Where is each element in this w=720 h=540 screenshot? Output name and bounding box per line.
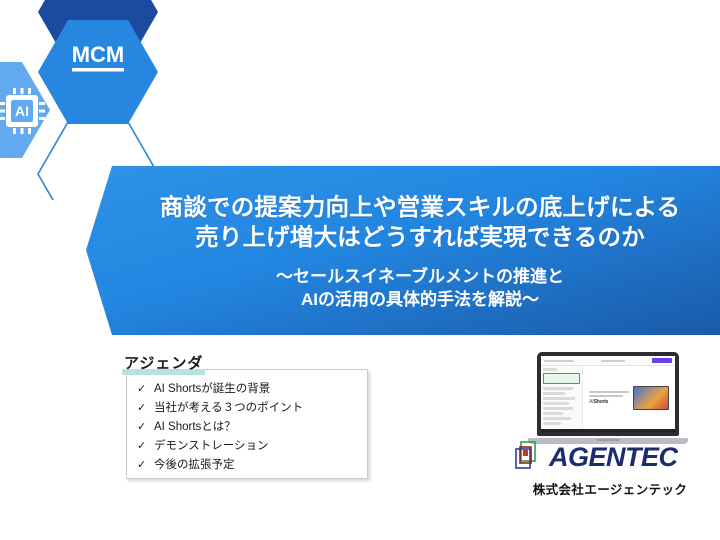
agenda-box: ✓ AI Shortsが誕生の背景 ✓ 当社が考える３つのポイント ✓ AI S… <box>126 369 368 479</box>
ai-shorts-logo-suffix: Shorts <box>594 399 609 405</box>
sidebar-placeholder <box>543 422 561 425</box>
subtitle-line-2: AIの活用の具体的手法を解説～ <box>276 288 564 311</box>
subtitle-line-1: ～セールスイネーブルメントの推進と <box>276 265 564 288</box>
agenda-item-label: 当社が考える３つのポイント <box>154 400 303 417</box>
laptop-screen: AIShorts <box>541 356 675 432</box>
mcm-label: MCM <box>72 42 125 67</box>
agenda-item: ✓ 今後の拡張予定 <box>137 457 367 474</box>
agenda-item: ✓ AI Shortsが誕生の背景 <box>137 381 367 398</box>
banner-text-block: 商談での提案力向上や営業スキルの底上げによる 売り上げ増大はどうすれば実現できる… <box>130 160 710 335</box>
app-main-content: AIShorts <box>583 366 675 429</box>
agenda-section: アジェンダ ✓ AI Shortsが誕生の背景 ✓ 当社が考える３つのポイント … <box>122 352 380 479</box>
sidebar-placeholder <box>543 407 573 410</box>
hexagon-ai <box>0 62 50 158</box>
ai-shorts-logo: AIShorts <box>589 399 629 405</box>
title-line-2: 売り上げ増大はどうすれば実現できるのか <box>195 222 645 252</box>
app-sidebar <box>541 366 583 429</box>
laptop-lid: AIShorts <box>537 352 679 436</box>
agenda-item-label: AI Shortsが誕生の背景 <box>154 381 270 398</box>
agenda-item: ✓ デモンストレーション <box>137 438 367 455</box>
topbar-placeholder-left <box>544 360 574 362</box>
agenda-item-label: 今後の拡張予定 <box>154 457 235 474</box>
content-placeholder-line <box>589 391 629 393</box>
sidebar-placeholder <box>543 412 563 415</box>
content-thumbnail <box>633 386 669 410</box>
ai-chip-icon: AI <box>0 88 45 134</box>
agentec-mark-icon <box>512 440 546 474</box>
check-icon: ✓ <box>137 457 154 474</box>
subtitle-block: ～セールスイネーブルメントの推進と AIの活用の具体的手法を解説～ <box>276 265 564 311</box>
topbar-primary-button <box>652 358 672 363</box>
content-placeholder-line <box>589 395 623 397</box>
agenda-item: ✓ AI Shortsとは？ <box>137 419 367 436</box>
slide-canvas: MCM AI <box>0 0 720 540</box>
sidebar-placeholder <box>543 392 565 395</box>
brand-logo-row: AGENTEC <box>512 440 708 474</box>
sidebar-placeholder <box>543 387 573 390</box>
check-icon: ✓ <box>137 438 154 455</box>
mcm-underline <box>72 68 124 72</box>
check-icon: ✓ <box>137 419 154 436</box>
app-topbar <box>541 356 675 366</box>
sidebar-placeholder <box>543 368 557 371</box>
title-line-1: 商談での提案力向上や営業スキルの底上げによる <box>160 192 681 222</box>
sidebar-selected-item <box>543 373 580 384</box>
ai-chip-label: AI <box>15 103 29 119</box>
app-bottombar <box>541 429 675 432</box>
title-banner: 商談での提案力向上や営業スキルの底上げによる 売り上げ増大はどうすれば実現できる… <box>0 160 720 340</box>
agenda-heading: アジェンダ <box>122 352 205 375</box>
laptop-mockup-image: AIShorts <box>528 352 688 444</box>
agenda-item-label: AI Shortsとは？ <box>154 419 236 436</box>
topbar-placeholder-center <box>601 360 625 362</box>
sidebar-placeholder <box>543 417 571 420</box>
company-name-jp: 株式会社エージェンテック <box>512 479 708 498</box>
check-icon: ✓ <box>137 400 154 417</box>
app-body: AIShorts <box>541 366 675 429</box>
agenda-item-label: デモンストレーション <box>154 438 269 455</box>
agenda-heading-text: アジェンダ <box>124 355 203 372</box>
sidebar-placeholder <box>543 402 569 405</box>
hexagon-navy-top <box>38 0 158 64</box>
hexagon-mcm <box>38 20 158 124</box>
sidebar-placeholder <box>543 397 575 400</box>
agenda-item: ✓ 当社が考える３つのポイント <box>137 400 367 417</box>
brand-name: AGENTEC <box>549 442 678 472</box>
brand-block: AGENTEC 株式会社エージェンテック <box>512 440 708 498</box>
check-icon: ✓ <box>137 381 154 398</box>
